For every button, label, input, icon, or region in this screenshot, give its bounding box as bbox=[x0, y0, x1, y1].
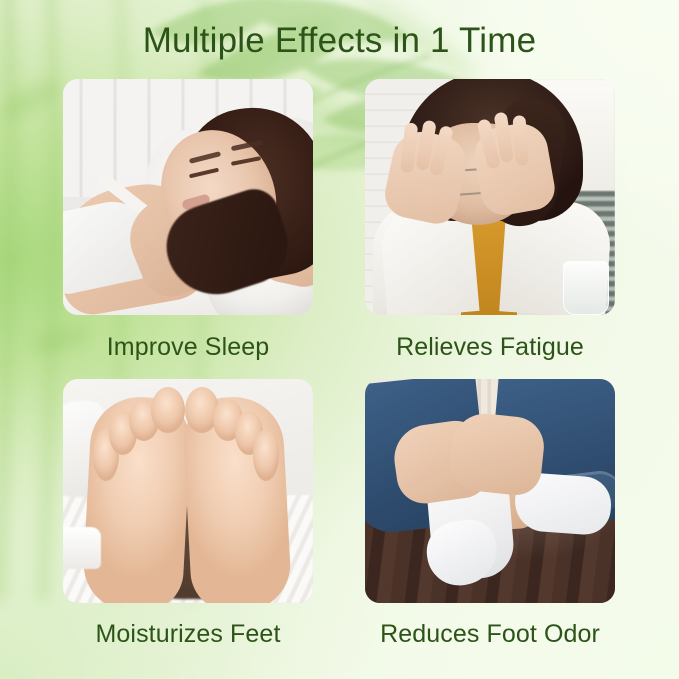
feature-caption-improve-sleep: Improve Sleep bbox=[63, 315, 313, 379]
feature-image-reduces-foot-odor[interactable] bbox=[365, 379, 615, 603]
bare-feet-photo bbox=[63, 379, 313, 603]
feature-image-relieves-fatigue[interactable] bbox=[365, 79, 615, 315]
feature-caption-relieves-fatigue: Relieves Fatigue bbox=[365, 315, 615, 379]
feature-grid: Improve Sleep Relieves Fatigue bbox=[63, 79, 616, 664]
feature-caption-reduces-foot-odor: Reduces Foot Odor bbox=[365, 603, 615, 664]
feature-caption-moisturizes-feet: Moisturizes Feet bbox=[63, 603, 313, 664]
putting-on-socks-photo bbox=[365, 379, 615, 603]
product-feature-poster: Multiple Effects in 1 Time bbox=[0, 0, 679, 679]
feature-image-moisturizes-feet[interactable] bbox=[63, 379, 313, 603]
page-title: Multiple Effects in 1 Time bbox=[0, 19, 679, 63]
feature-image-improve-sleep[interactable] bbox=[63, 79, 313, 315]
sleeping-woman-photo bbox=[63, 79, 313, 315]
tired-woman-photo bbox=[365, 79, 615, 315]
